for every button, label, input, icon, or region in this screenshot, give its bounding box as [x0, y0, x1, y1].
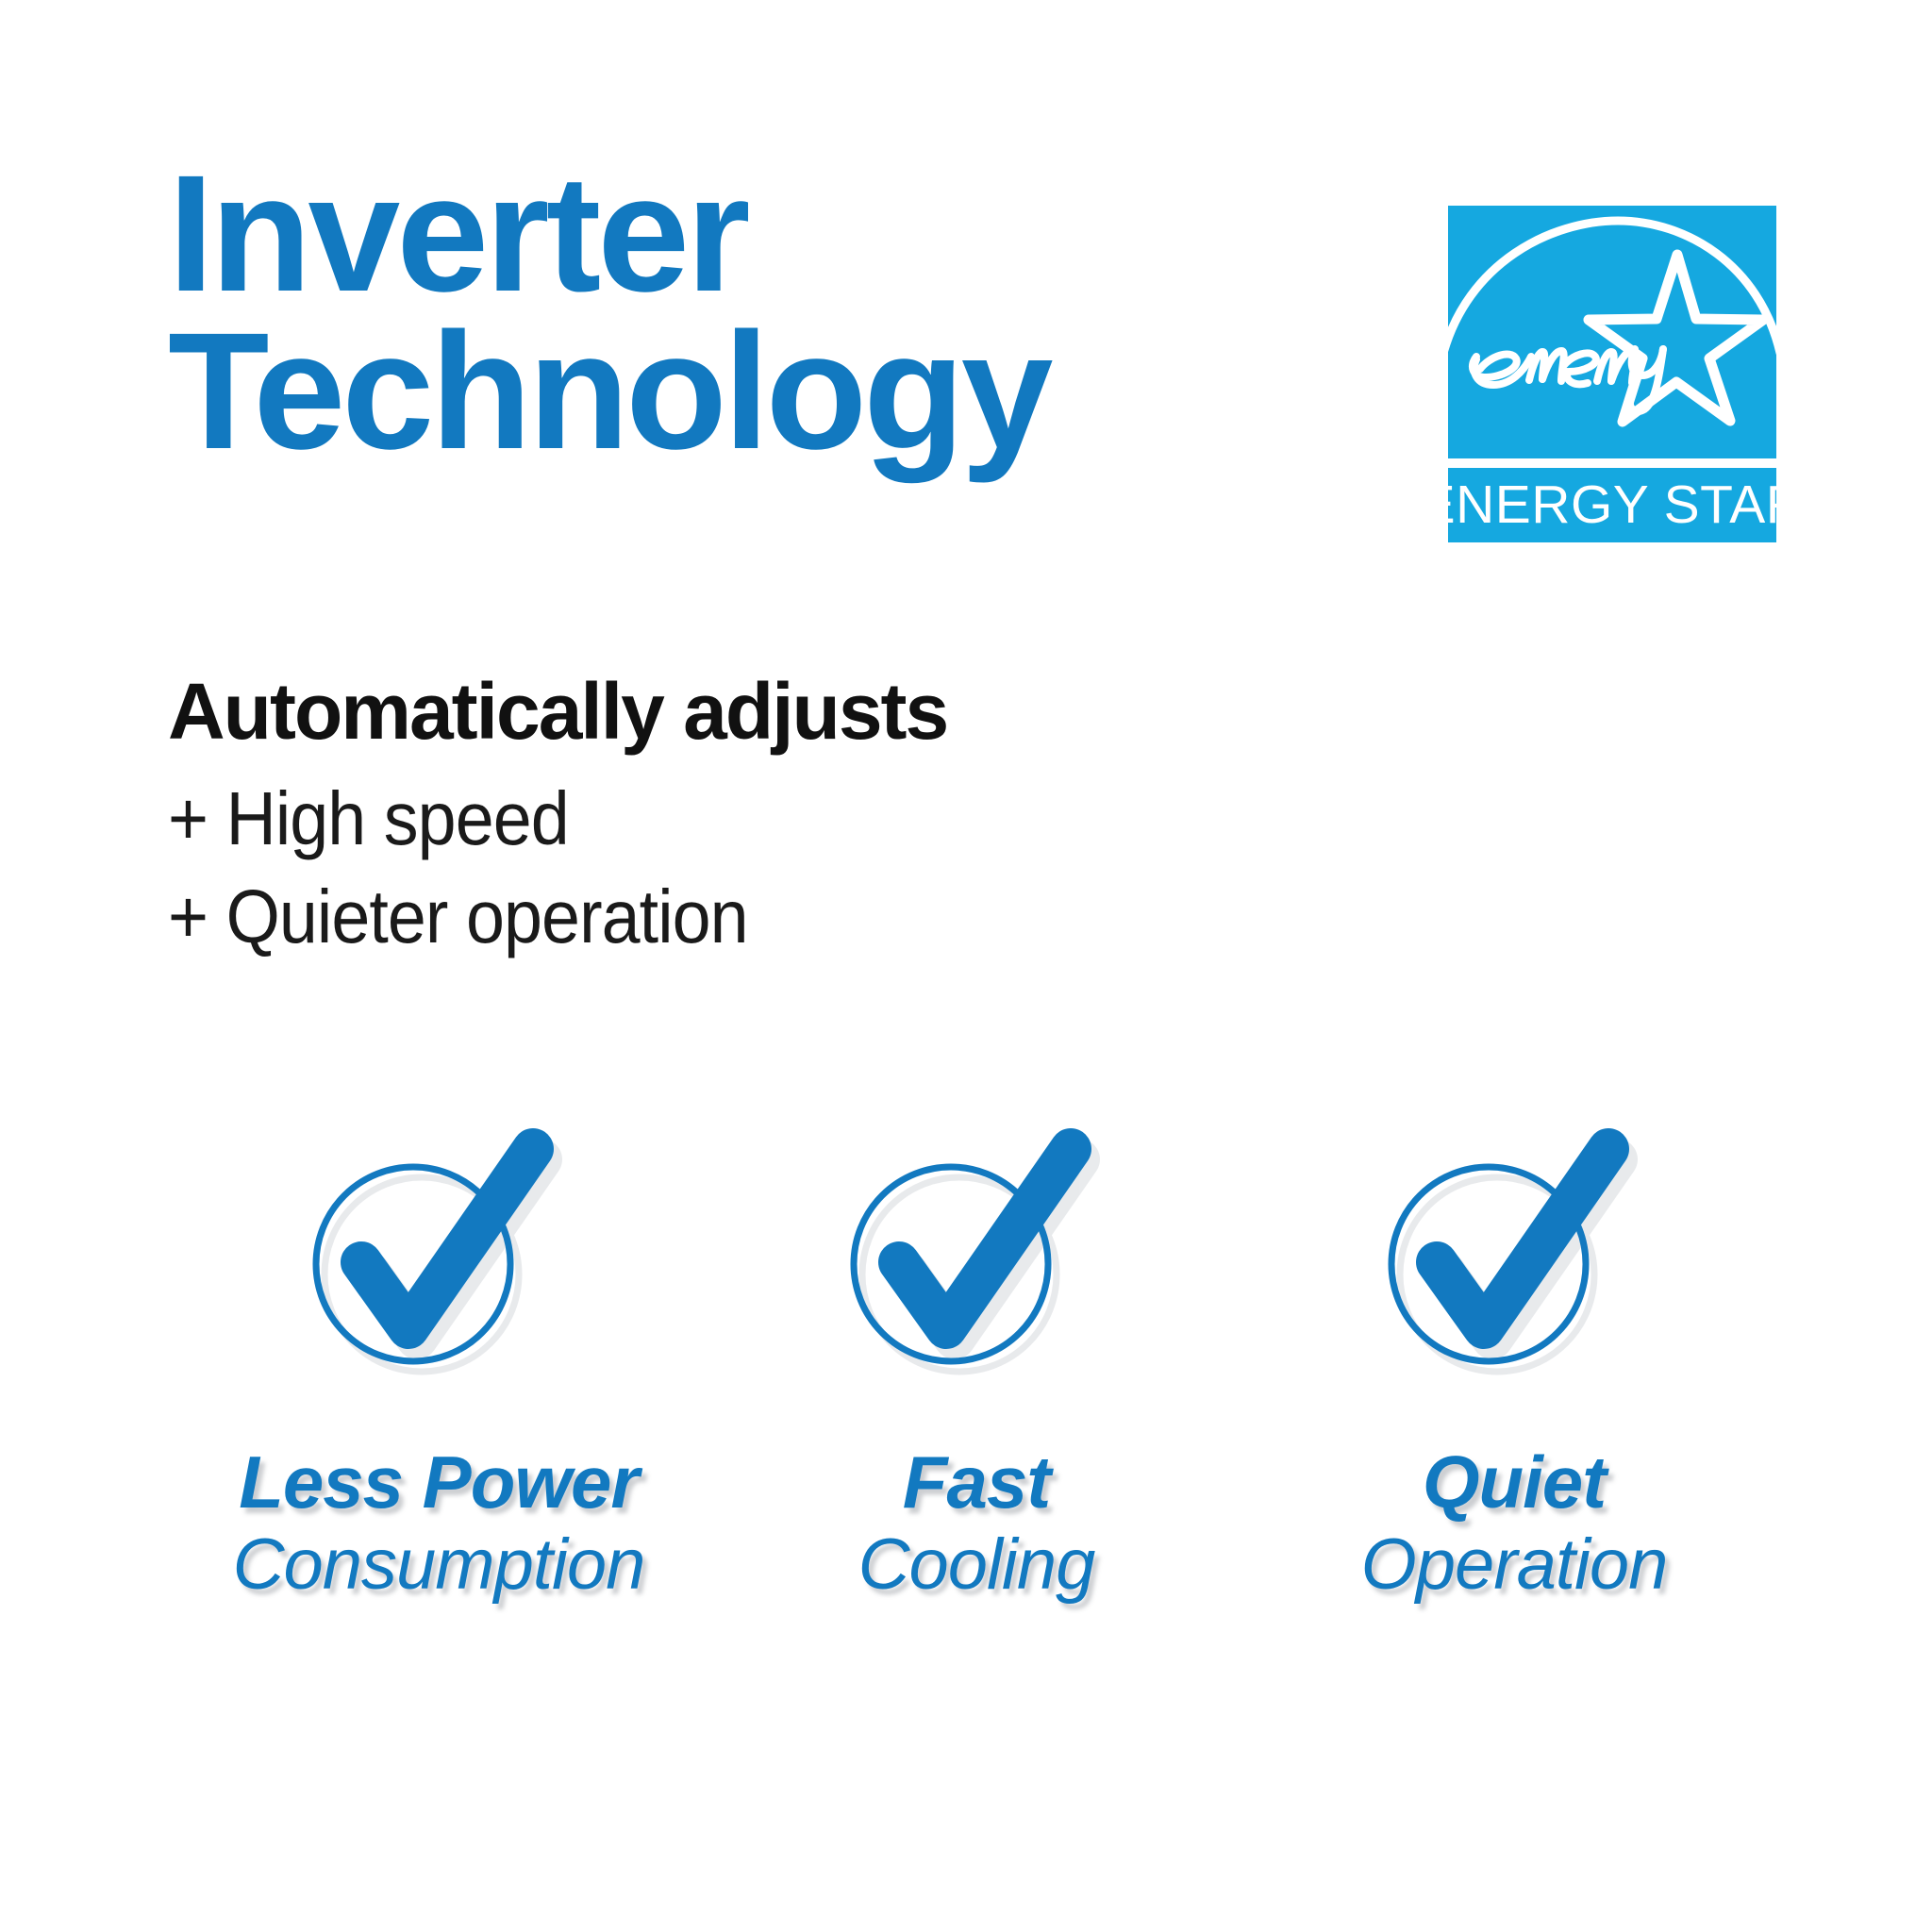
feature-label-group-3: Quiet Operation [1361, 1445, 1668, 1601]
checkmark-circle-wrap-3 [1373, 1113, 1656, 1396]
feature-summary-heading: Automatically adjusts [168, 672, 1394, 751]
energy-star-logo: ENERGY STAR [1448, 206, 1776, 542]
energy-star-arc-and-star-icon [1448, 206, 1776, 458]
page-title-line-1: Inverter [168, 156, 1281, 313]
blue-checkmark-circle-icon [297, 1113, 580, 1396]
checkmark-circle-wrap-2 [835, 1113, 1118, 1396]
page-title-line-2: Technology [168, 313, 1281, 471]
infographic-canvas: Inverter Technology [0, 0, 1932, 1932]
blue-checkmark-circle-icon [1373, 1113, 1656, 1396]
feature-less-power-consumption: Less Power Consumption [156, 1113, 722, 1601]
feature-fast-cooling: Fast Cooling [693, 1113, 1259, 1601]
blue-checkmark-circle-icon [835, 1113, 1118, 1396]
feature-title-1: Less Power [233, 1445, 645, 1521]
feature-title-3: Quiet [1361, 1445, 1668, 1521]
feature-label-group-1: Less Power Consumption [233, 1445, 645, 1601]
checkmark-circle-wrap-1 [297, 1113, 580, 1396]
feature-subtitle-3: Operation [1361, 1528, 1668, 1602]
energy-star-label: ENERGY STAR [1420, 478, 1806, 532]
feature-badge-row: Less Power Consumption Fast Cooling [0, 1113, 1932, 1601]
energy-star-label-bar: ENERGY STAR [1448, 468, 1776, 542]
feature-title-2: Fast [858, 1445, 1095, 1521]
feature-summary-block: Automatically adjusts + High speed + Qui… [168, 672, 1394, 972]
feature-quiet-operation: Quiet Operation [1231, 1113, 1797, 1601]
feature-subtitle-2: Cooling [858, 1528, 1095, 1602]
feature-label-group-2: Fast Cooling [858, 1445, 1095, 1601]
feature-bullet-high-speed: + High speed [168, 775, 1296, 862]
feature-bullet-quieter-operation: + Quieter operation [168, 874, 1296, 960]
page-title: Inverter Technology [168, 156, 1281, 471]
energy-star-logo-mark [1448, 206, 1776, 458]
feature-subtitle-1: Consumption [233, 1528, 645, 1602]
